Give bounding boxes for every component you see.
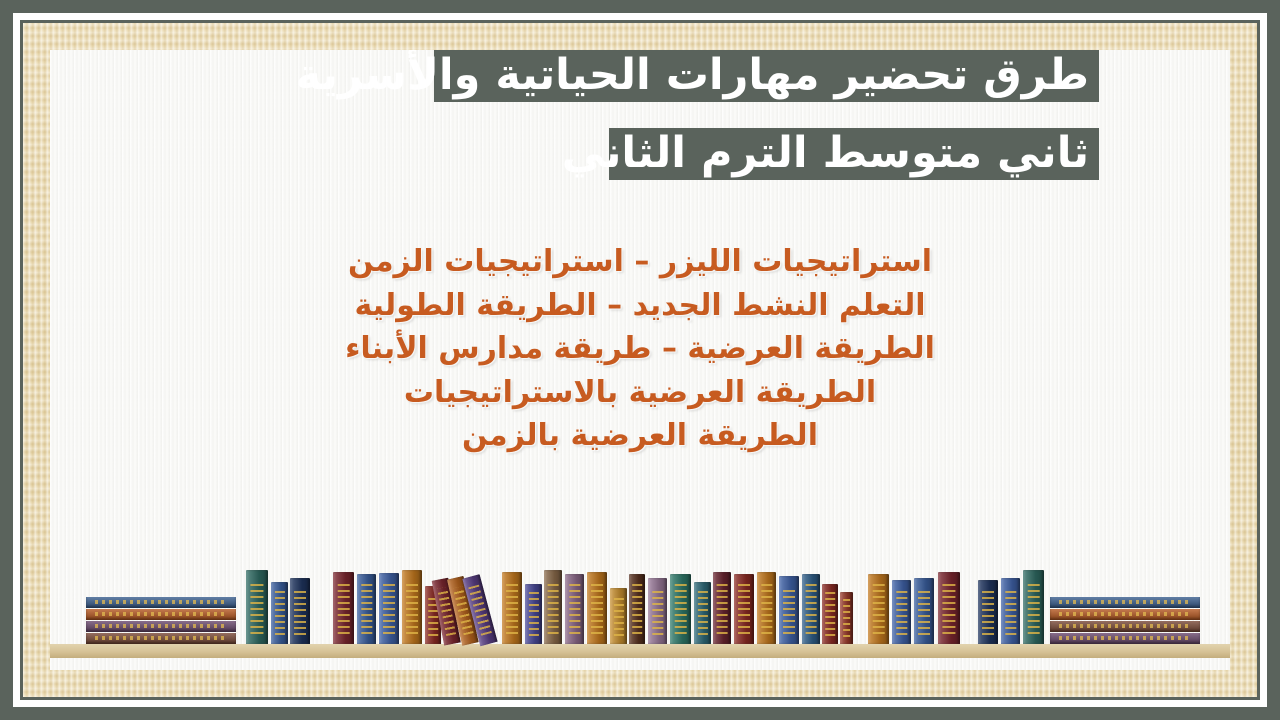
book-spine-decor (383, 583, 395, 634)
book-spine-decor (843, 599, 851, 636)
book-spine-decor (872, 584, 885, 634)
book (1001, 578, 1020, 644)
book-spine-decor (1005, 587, 1016, 635)
body-line: الطريقة العرضية – طريقة مدارس الأبناء (50, 327, 1230, 371)
stacked-book (86, 621, 236, 632)
book (694, 582, 711, 644)
book (565, 574, 584, 644)
book-stack-right (1050, 596, 1200, 644)
book (587, 572, 607, 644)
book-spine-decor (613, 596, 623, 636)
book-spine-decor (506, 582, 518, 634)
book (290, 578, 310, 644)
book-spine-decor (982, 589, 994, 635)
book (840, 592, 853, 644)
book (1023, 570, 1044, 644)
book-spine-decor (896, 589, 907, 635)
body-line: التعلم النشط الجديد – الطريقة الطولية (50, 284, 1230, 328)
book (402, 570, 422, 644)
book (713, 572, 731, 644)
book-spine-decor (738, 584, 750, 634)
book (246, 570, 268, 644)
book (938, 572, 960, 644)
book-spine-decor (652, 587, 663, 635)
book-spine-decor (337, 582, 350, 634)
book (779, 576, 799, 644)
bookshelf-illustration (50, 550, 1230, 670)
book (629, 574, 645, 644)
slide-body-text: استراتيجيات الليزر – استراتيجيات الزمن ا… (50, 240, 1230, 458)
book-spine-decor (825, 592, 835, 635)
book-spine-decor (783, 586, 795, 635)
book (892, 580, 911, 644)
title-line-2: ثاني متوسط الترم الثاني (609, 128, 1099, 180)
book (802, 574, 820, 644)
book (610, 588, 627, 644)
book-spine-decor (591, 582, 603, 634)
book-spine-decor (761, 582, 772, 634)
book (914, 578, 934, 644)
book-spine-decor (806, 584, 817, 634)
slide-content-area: طرق تحضير مهارات الحياتية والأسرية ثاني … (50, 50, 1230, 670)
book-spine-decor (632, 584, 642, 634)
stacked-book (86, 633, 236, 644)
shelf-board (50, 644, 1230, 658)
book-spine-decor (250, 580, 263, 633)
body-line: الطريقة العرضية بالزمن (50, 414, 1230, 458)
book-spine-decor (942, 582, 955, 634)
body-line: استراتيجيات الليزر – استراتيجيات الزمن (50, 240, 1230, 284)
book (544, 570, 562, 644)
book (868, 574, 889, 644)
book-spine-decor (274, 591, 284, 636)
book (822, 584, 838, 644)
book (333, 572, 354, 644)
book (379, 573, 399, 644)
book-spine-decor (1027, 580, 1040, 633)
title-line-1: طرق تحضير مهارات الحياتية والأسرية (434, 50, 1099, 102)
book-spine-decor (697, 591, 707, 636)
book-spine-decor (548, 580, 559, 633)
book-spine-decor (569, 584, 580, 634)
book-spine-decor (361, 584, 372, 634)
stacked-book (1050, 633, 1200, 644)
book (357, 574, 376, 644)
book (648, 578, 667, 644)
stacked-book (1050, 621, 1200, 632)
stacked-book (1050, 597, 1200, 608)
book (525, 584, 542, 644)
book (757, 572, 776, 644)
body-line: الطريقة العرضية بالاستراتيجيات (50, 371, 1230, 415)
book (670, 574, 691, 644)
stacked-book (1050, 609, 1200, 620)
slide-canvas: طرق تحضير مهارات الحياتية والأسرية ثاني … (0, 0, 1280, 720)
book (734, 574, 754, 644)
stacked-book (86, 597, 236, 608)
stacked-book (86, 609, 236, 620)
book-spine-decor (674, 584, 687, 634)
book-spine-decor (918, 587, 930, 635)
book (978, 580, 998, 644)
book-spine-decor (294, 587, 306, 635)
book (502, 572, 522, 644)
book-stack-left (86, 596, 236, 644)
book-spine-decor (528, 592, 538, 635)
books-row (50, 554, 1230, 644)
book (271, 582, 288, 644)
book-spine-decor (717, 582, 728, 634)
book-spine-decor (406, 580, 418, 633)
slide-title: طرق تحضير مهارات الحياتية والأسرية ثاني … (50, 50, 1230, 180)
